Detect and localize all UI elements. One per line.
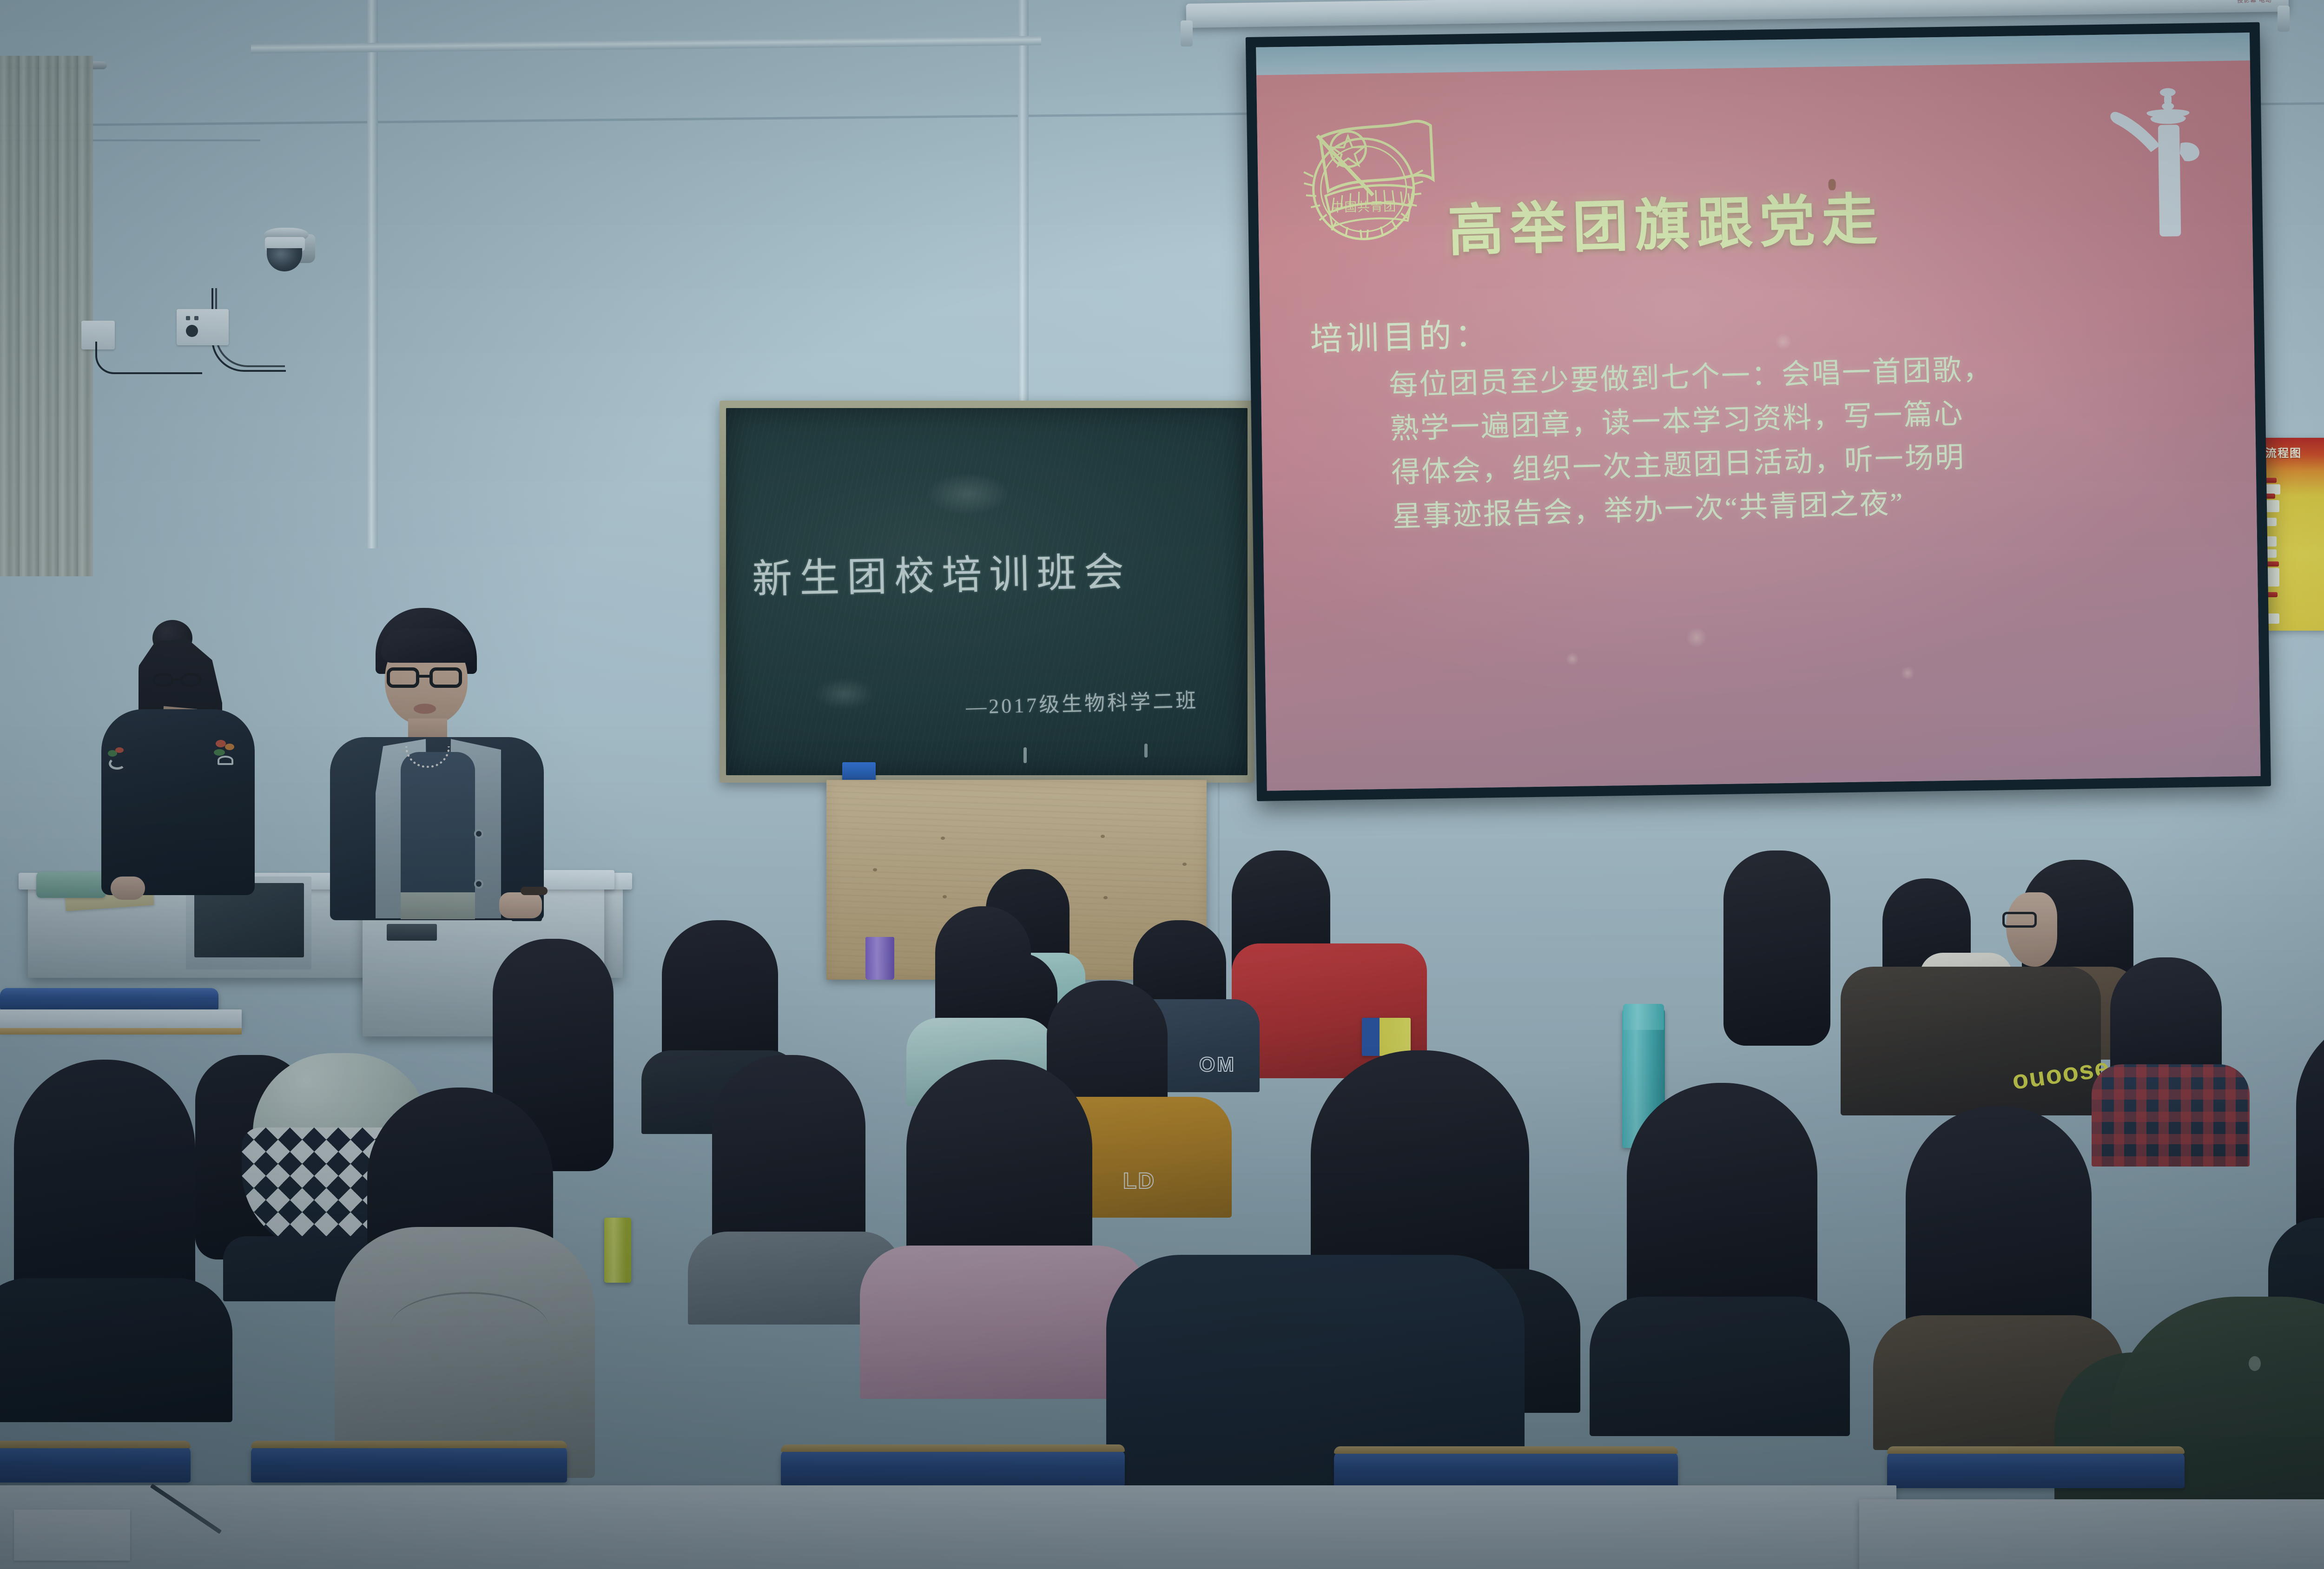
front-bench-trim-4: [1334, 1446, 1678, 1454]
front-bench-2: [251, 1445, 567, 1483]
projector-screen-surface: 中国共青团: [1256, 33, 2261, 791]
presenter-right-glasses: [387, 666, 467, 690]
student-green-hood-button: [2249, 1356, 2261, 1371]
front-bench-trim-3: [781, 1444, 1125, 1452]
student-mid-pink: [860, 1060, 1148, 1385]
front-desk-surface: [0, 1485, 1896, 1569]
student-dark-jacket: [1841, 967, 2101, 1115]
chalk-smudge-a: [814, 678, 875, 710]
blackboard-subline: —2017级生物科学二班: [965, 684, 1199, 720]
student-hair: [1723, 850, 1830, 1046]
plywood-knot-f: [1182, 863, 1187, 866]
student-hair: [1627, 1083, 1817, 1334]
presenter-left: [84, 618, 279, 906]
front-bench-4: [1334, 1451, 1678, 1488]
slide-top-blank-band: [1256, 33, 2250, 75]
slide-bokeh-d: [1566, 653, 1579, 666]
screen-bracket-left: [1181, 20, 1193, 46]
slide-subtitle: 培训目的：: [1309, 309, 1492, 361]
student-plaid-shirt: [2092, 1064, 2250, 1167]
outlet-socket: [186, 325, 198, 337]
presenter-right-sweater-hem: [401, 892, 475, 919]
presenter-left-jacket: [101, 709, 255, 895]
plywood-knot-a: [941, 837, 945, 840]
presenter-right-button-b: [474, 879, 483, 889]
poster-chip-5: [2266, 561, 2279, 567]
purple-cup: [865, 937, 894, 980]
power-outlet-left[interactable]: [177, 309, 229, 345]
communist-youth-league-emblem: 中国共青团: [1293, 105, 1439, 247]
presenter-left-chest-embroidery: [108, 747, 132, 773]
outlet-slot-a: [186, 316, 190, 320]
projector-screen-frame: 中国共青团: [1246, 22, 2271, 801]
student-glasses: [2002, 912, 2037, 928]
outlet-slot-b: [194, 316, 198, 320]
slide-body: 每位团员至少要做到七个一：会唱一首团歌， 熟学一遍团章，读一本学习资料，写一篇心…: [1388, 347, 2030, 539]
student-mid-plaid: [2092, 957, 2250, 1162]
presenter-right: [325, 604, 548, 920]
plywood-knot-b: [1101, 835, 1105, 838]
presenter-right-wristband: [521, 887, 548, 895]
blackboard: 新生团校培训班会 —2017级生物科学二班: [726, 408, 1248, 775]
outlet-cable-left: [95, 342, 202, 374]
front-bench-trim-5: [1887, 1446, 2185, 1454]
dome-camera-left: [260, 224, 325, 289]
slide-title: 高举团旗跟党走: [1447, 174, 1885, 266]
emblem-text: 中国共青团: [1331, 199, 1396, 214]
student-green-hood: [2110, 1297, 2324, 1436]
student-back-yellowtext: ouoose loo: [1841, 967, 2101, 1115]
presenter-left-sleeve-embroidery: [213, 740, 238, 768]
lectern-equipment-panel: [387, 924, 437, 941]
student-front-grey-hood: [316, 1088, 614, 1473]
slide-bokeh-b: [1686, 627, 1707, 648]
small-yellow-bottle: [604, 1218, 631, 1283]
chalk-smudge-b: [926, 473, 1010, 515]
slide-bokeh-a: [1775, 333, 1792, 350]
presenter-left-hand: [111, 877, 145, 900]
plywood-knot-e: [1103, 896, 1108, 899]
blackboard-frame: 新生团校培训班会 —2017级生物科学二班: [720, 401, 1254, 783]
desk-edge-left-back: [0, 1028, 242, 1035]
presenter-right-hand: [499, 892, 542, 918]
student-back-4: [1715, 850, 1850, 1069]
front-bench-trim-2: [251, 1441, 567, 1448]
student-black-coat: [0, 1278, 232, 1422]
student-pink-coat: [860, 1246, 1148, 1399]
student-front-left-black: [0, 1060, 232, 1413]
desk-top-left-back: [0, 1009, 242, 1030]
slide-bokeh-c: [1901, 666, 1915, 680]
plywood-knot-c: [873, 868, 877, 871]
plywood-knot-d: [943, 895, 947, 898]
blackboard-headline: 新生团校培训班会: [752, 539, 1132, 605]
student-grey-hood-seam: [390, 1292, 548, 1362]
student-face-profile: [2006, 892, 2057, 967]
student-dark-coat: [1590, 1297, 1850, 1436]
chalk-mark-b: [1144, 744, 1148, 758]
classroom-photo: 工作流程图 新生团校培训班会 —2017级生物科学二班: [0, 0, 2324, 1569]
presenter-right-button-a: [474, 829, 483, 838]
front-bench-3: [781, 1449, 1125, 1486]
slide-content: 中国共青团: [1279, 85, 2261, 791]
mint-thermos-cap: [1623, 1004, 1664, 1030]
presenter-left-glasses: [152, 672, 205, 688]
bench-left-back: [0, 988, 218, 1010]
front-bench-trim-1: [0, 1441, 191, 1448]
presentation-slide: 中国共青团: [1256, 33, 2261, 791]
front-desk-paper-a: [14, 1510, 130, 1561]
presenter-right-hair-fringe: [381, 628, 474, 663]
student-mid-right-dark: [2268, 1013, 2324, 1338]
student-mid-right-a: [1590, 1083, 1850, 1427]
conduit-pipe-left-a: [367, 0, 378, 548]
screen-brand-logo: 投影幕 电动: [2237, 0, 2272, 4]
camera-lens-dome: [267, 248, 302, 271]
screen-bracket-right: [2278, 6, 2290, 32]
presenter-right-mouth: [414, 704, 436, 714]
front-bench-5: [1887, 1451, 2185, 1488]
chalk-mark-a: [1023, 747, 1027, 763]
window-curtain: [0, 56, 93, 576]
student-front-yellow-cup-area: [604, 1218, 660, 1292]
front-bench-1: [0, 1445, 191, 1483]
huabiao-column: [2098, 84, 2203, 238]
front-desk-surface-right: [1859, 1499, 2324, 1569]
